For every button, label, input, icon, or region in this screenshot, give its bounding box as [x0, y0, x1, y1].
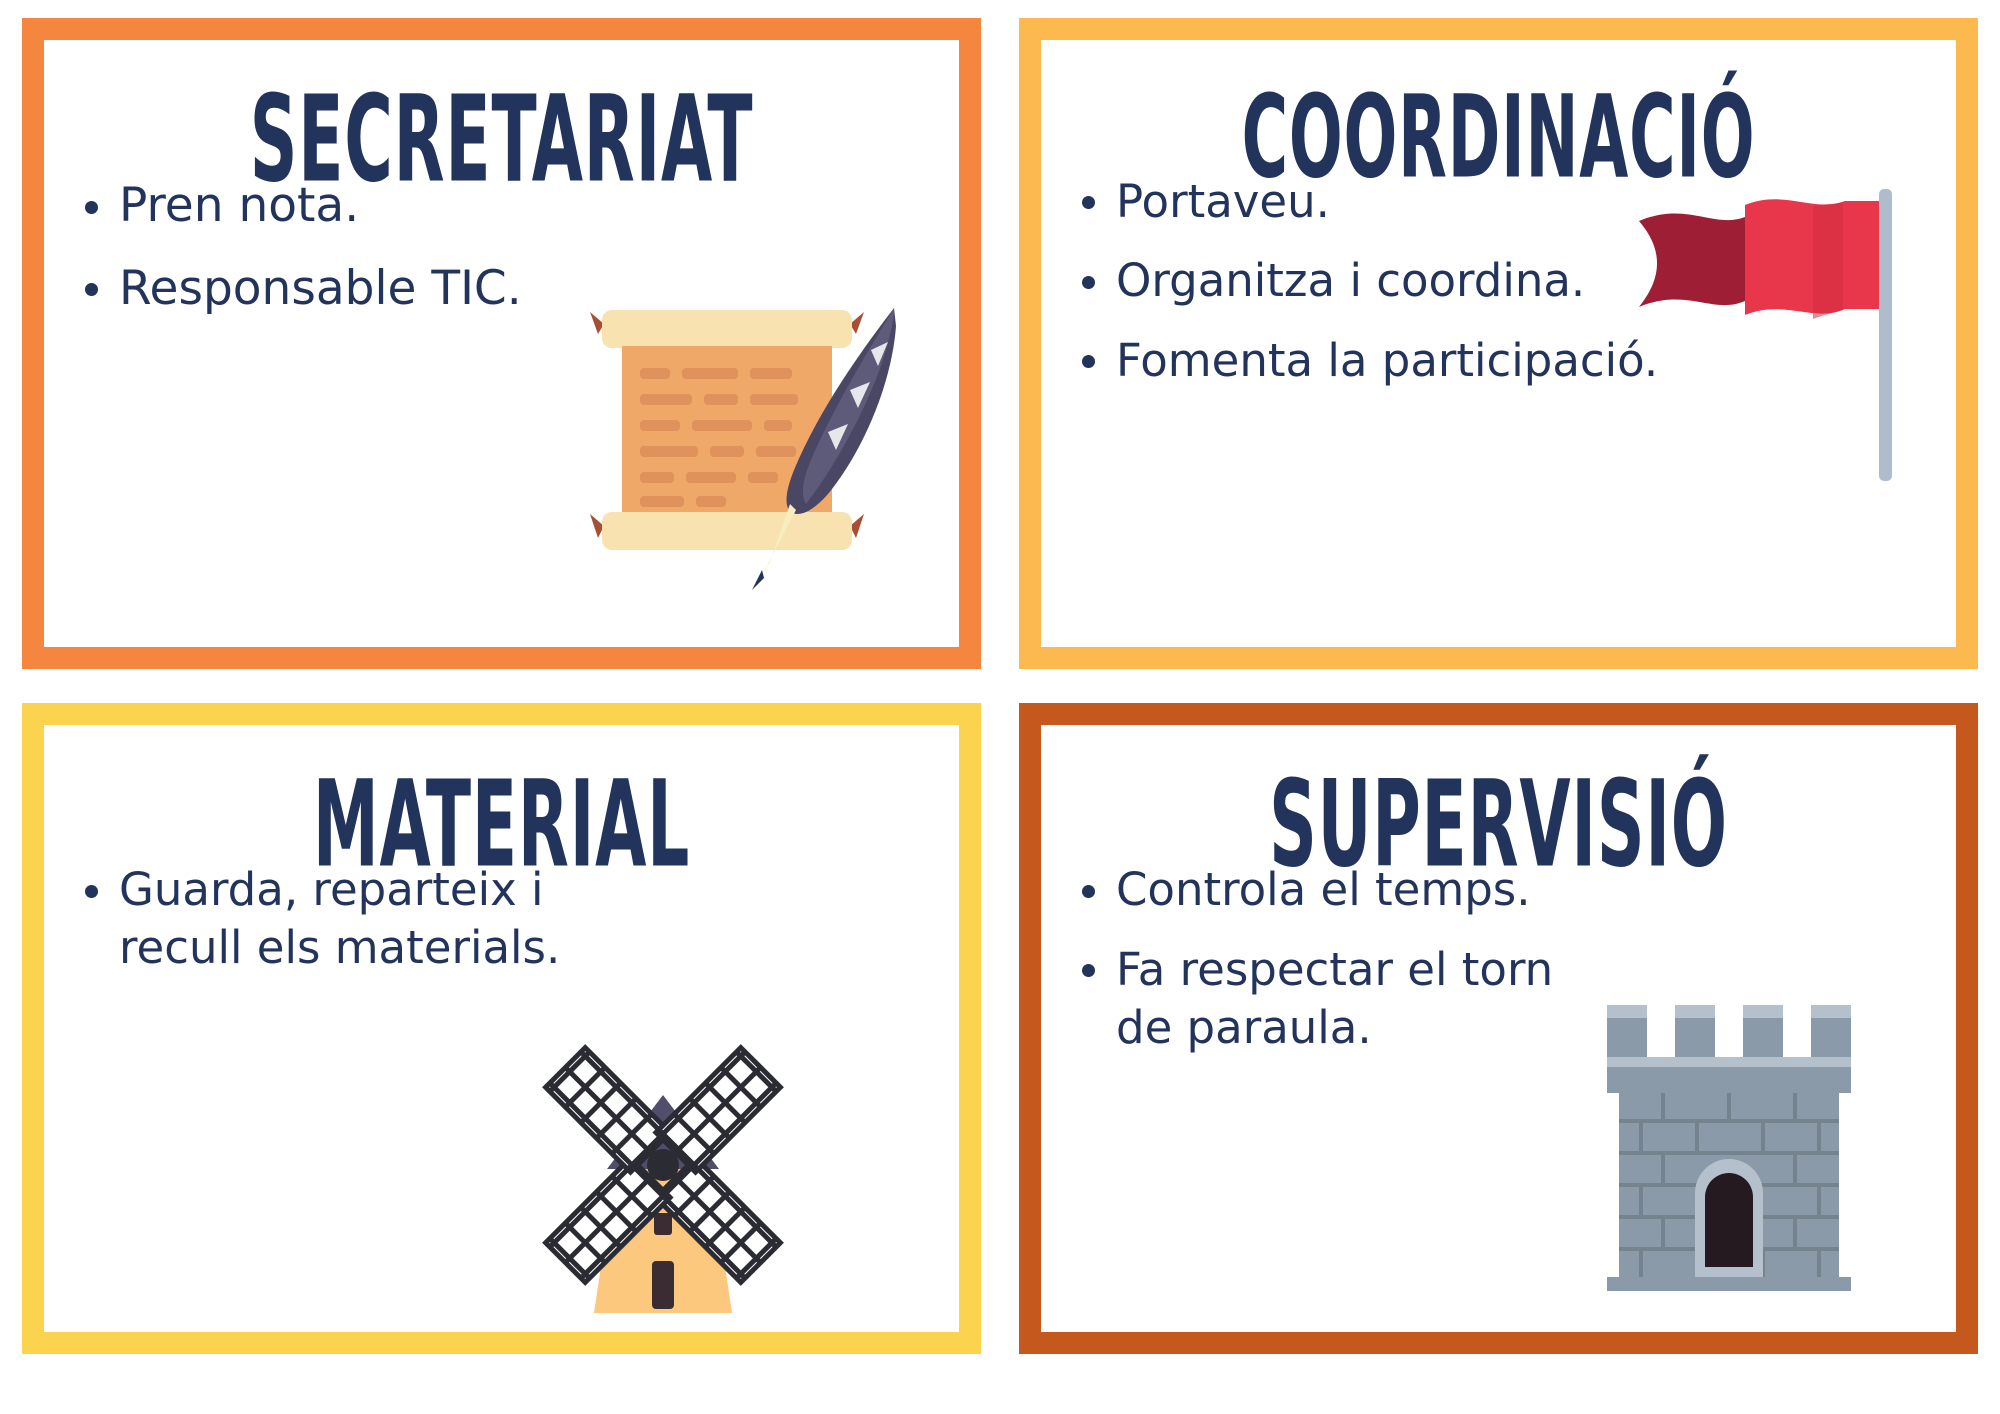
- card-inner-material: MATERIAL: [58, 735, 945, 1322]
- windmill-illustration: [488, 969, 838, 1329]
- bullet-list-material: Guarda, reparteix i recull els materials…: [75, 861, 595, 998]
- card-body-secretariat: Pren nota. Responsable TIC.: [75, 176, 928, 626]
- list-item: Portaveu.: [1072, 173, 1658, 231]
- list-item: Fa respectar el torn de paraula.: [1072, 941, 1572, 1056]
- card-coordinacio: COORDINACIÓ Portaveu. Organitza i coordi…: [1019, 18, 1978, 669]
- list-item: Controla el temps.: [1072, 861, 1572, 919]
- castle-tower-illustration: [1585, 993, 1875, 1293]
- card-inner-supervisio: SUPERVISIÓ: [1055, 735, 1942, 1322]
- list-item: Organitza i coordina.: [1072, 252, 1658, 310]
- list-item: Responsable TIC.: [75, 259, 522, 319]
- bullet-list-supervisio: Controla el temps. Fa respectar el torn …: [1072, 861, 1572, 1078]
- card-body-supervisio: Controla el temps. Fa respectar el torn …: [1072, 861, 1925, 1311]
- list-item: Guarda, reparteix i recull els materials…: [75, 861, 595, 976]
- card-body-material: Guarda, reparteix i recull els materials…: [75, 861, 928, 1311]
- list-item: Pren nota.: [75, 176, 522, 236]
- bullet-list-coordinacio: Portaveu. Organitza i coordina. Fomenta …: [1072, 173, 1658, 412]
- card-body-coordinacio: Portaveu. Organitza i coordina. Fomenta …: [1072, 173, 1925, 626]
- card-material: MATERIAL: [22, 703, 981, 1354]
- card-inner-secretariat: SECRETARIAT: [58, 50, 945, 637]
- bullet-list-secretariat: Pren nota. Responsable TIC.: [75, 176, 522, 340]
- red-flag-illustration: [1617, 183, 1917, 493]
- poster-sheet: SECRETARIAT: [0, 0, 2000, 1414]
- scroll-quill-illustration: [582, 290, 912, 590]
- card-secretariat: SECRETARIAT: [22, 18, 981, 669]
- card-supervisio: SUPERVISIÓ: [1019, 703, 1978, 1354]
- card-inner-coordinacio: COORDINACIÓ Portaveu. Organitza i coordi…: [1055, 50, 1942, 637]
- list-item: Fomenta la participació.: [1072, 332, 1658, 390]
